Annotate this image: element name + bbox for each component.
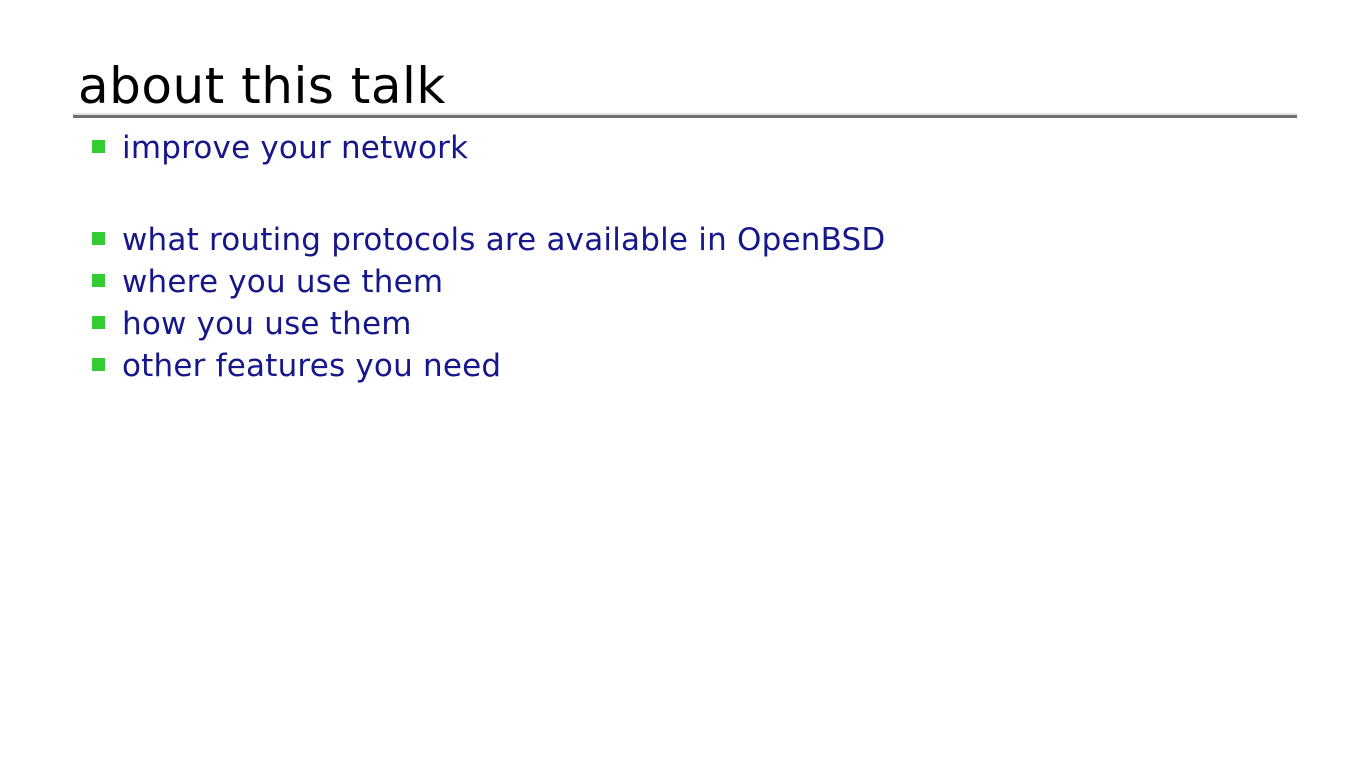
green-square-bullet-icon bbox=[92, 316, 105, 329]
list-item-label: what routing protocols are available in … bbox=[122, 220, 885, 260]
bullet-list: improve your network what routing protoc… bbox=[92, 128, 885, 388]
green-square-bullet-icon bbox=[92, 140, 105, 153]
list-item: where you use them bbox=[92, 262, 885, 304]
list-item: improve your network bbox=[92, 128, 885, 170]
list-item: other features you need bbox=[92, 346, 885, 388]
list-item: what routing protocols are available in … bbox=[92, 220, 885, 262]
page-title: about this talk bbox=[78, 58, 446, 114]
list-item-label: how you use them bbox=[122, 304, 412, 344]
list-item-label: where you use them bbox=[122, 262, 443, 302]
list-item-label: improve your network bbox=[122, 128, 468, 168]
presentation-slide: about this talk improve your network wha… bbox=[0, 0, 1366, 768]
green-square-bullet-icon bbox=[92, 232, 105, 245]
list-item: how you use them bbox=[92, 304, 885, 346]
green-square-bullet-icon bbox=[92, 358, 105, 371]
title-divider-shadow bbox=[73, 115, 1297, 118]
list-item-label: other features you need bbox=[122, 346, 501, 386]
title-divider bbox=[73, 113, 1297, 118]
green-square-bullet-icon bbox=[92, 274, 105, 287]
